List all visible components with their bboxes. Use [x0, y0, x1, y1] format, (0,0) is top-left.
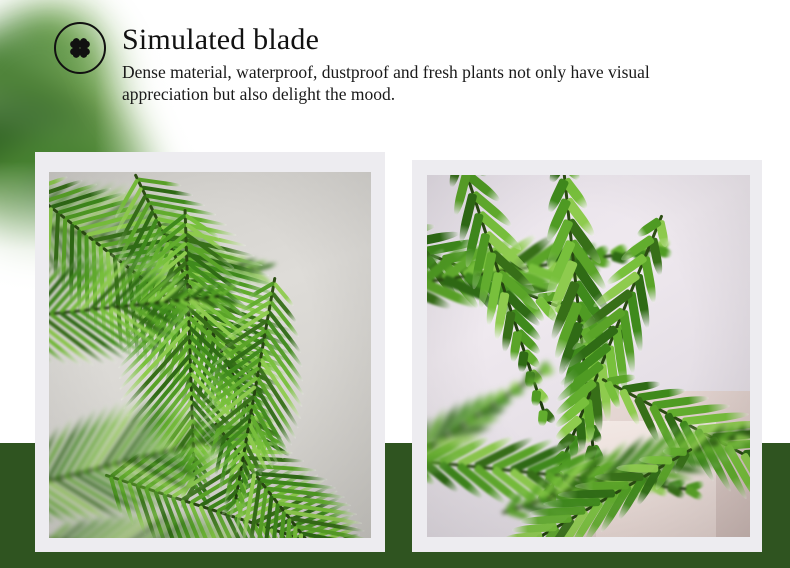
header: Simulated blade Dense material, waterpro… [0, 0, 790, 140]
product-photo-right [427, 175, 750, 537]
clover-flower-icon [54, 22, 106, 74]
palm-photo-right-content [427, 175, 750, 537]
photo-frame-right [412, 160, 762, 552]
promo-banner: Simulated blade Dense material, waterpro… [0, 0, 790, 568]
page-title: Simulated blade [122, 22, 319, 58]
photo-frame-left [35, 152, 385, 552]
page-subtitle: Dense material, waterproof, dustproof an… [122, 61, 722, 105]
product-photo-left [49, 172, 371, 538]
palm-photo-left-content [49, 172, 371, 538]
